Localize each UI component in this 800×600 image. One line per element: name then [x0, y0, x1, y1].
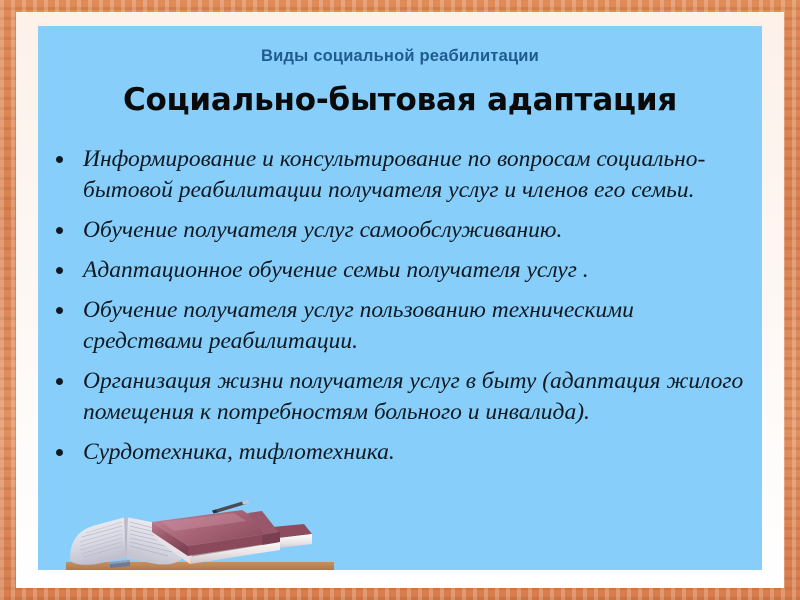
list-item-text: Организация жизни получателя услуг в быт… — [83, 368, 743, 425]
list-item-text: Обучение получателя услуг самообслуживан… — [83, 217, 562, 243]
list-item: Обучение получателя услуг пользованию те… — [43, 295, 748, 357]
bullet-dot-icon — [56, 156, 63, 163]
list-item-text: Обучение получателя услуг пользованию те… — [83, 297, 634, 354]
books-illustration — [66, 494, 334, 570]
bullet-dot-icon — [56, 267, 63, 274]
bullet-dot-icon — [56, 227, 63, 234]
bullet-dot-icon — [56, 449, 63, 456]
list-item: Информирование и консультирование по воп… — [43, 144, 748, 206]
list-item: Организация жизни получателя услуг в быт… — [43, 366, 748, 428]
list-item-text: Сурдотехника, тифлотехника. — [83, 439, 395, 465]
slide: Виды социальной реабилитации Социально-б… — [0, 0, 800, 600]
slide-content-field: Виды социальной реабилитации Социально-б… — [38, 26, 762, 570]
list-item-text: Адаптационное обучение семьи получателя … — [83, 257, 589, 283]
list-item: Адаптационное обучение семьи получателя … — [43, 255, 748, 286]
slide-kicker: Виды социальной реабилитации — [38, 47, 762, 66]
list-item: Сурдотехника, тифлотехника. — [43, 437, 748, 468]
bullet-dot-icon — [56, 307, 63, 314]
bullet-dot-icon — [56, 378, 63, 385]
list-item: Обучение получателя услуг самообслуживан… — [43, 215, 748, 246]
bullet-list: Информирование и консультирование по воп… — [43, 144, 748, 468]
list-item-text: Информирование и консультирование по воп… — [83, 146, 705, 203]
page-title: Социально-бытовая адаптация — [38, 82, 762, 118]
